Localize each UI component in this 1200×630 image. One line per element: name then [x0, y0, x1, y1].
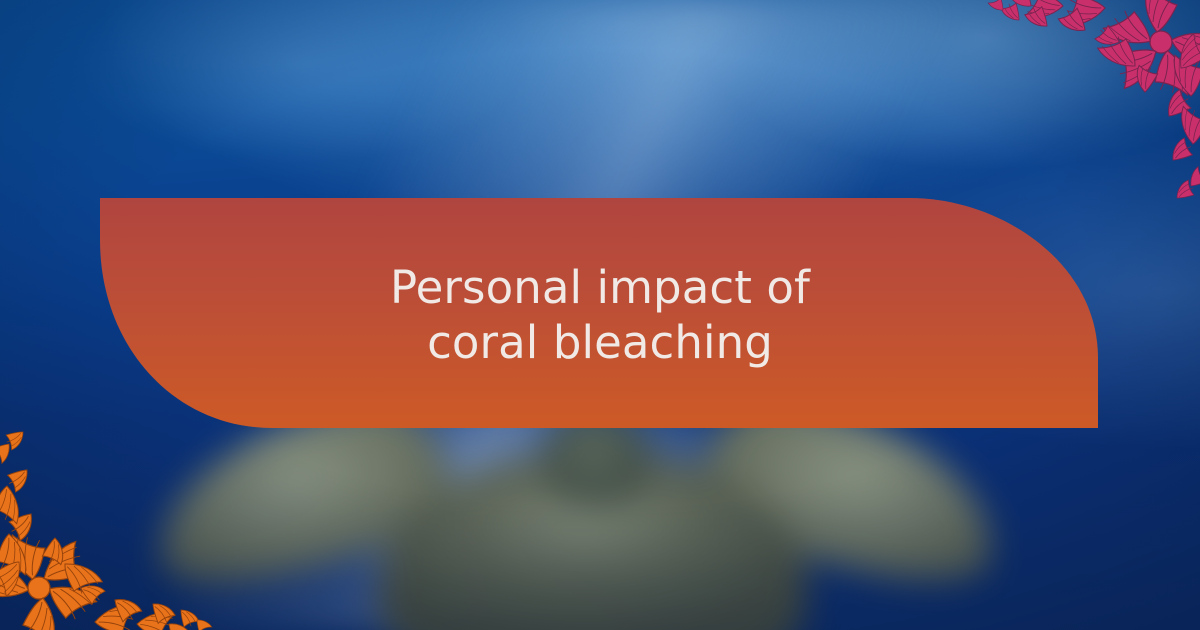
social-card: Personal impact of coral bleaching [0, 0, 1200, 630]
page-title: Personal impact of coral bleaching [100, 196, 1100, 430]
